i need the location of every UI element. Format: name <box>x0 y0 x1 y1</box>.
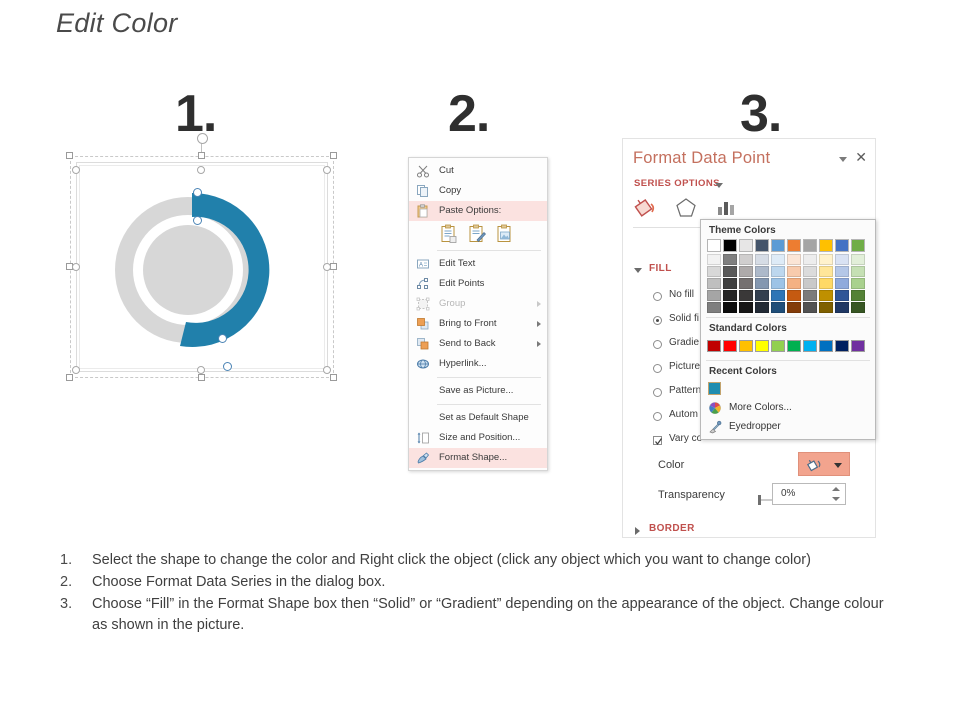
placeholder-handle-se[interactable] <box>323 366 331 374</box>
chart-options-icon[interactable] <box>713 195 739 221</box>
theme-variant-swatch-2-2[interactable] <box>739 278 753 289</box>
instructions-list: 1. Select the shape to change the color … <box>54 550 894 637</box>
context-menu-item-set-as-default-shape[interactable]: Set as Default Shape <box>409 408 547 428</box>
context-menu-item-save-as-picture[interactable]: Save as Picture... <box>409 381 547 401</box>
series-options-label[interactable]: SERIES OPTIONS <box>634 178 720 189</box>
fill-bucket-icon[interactable] <box>633 195 659 221</box>
option-no-fill[interactable]: No fill <box>669 289 694 300</box>
resize-handle-n[interactable] <box>198 152 205 159</box>
theme-variant-swatch-1-5[interactable] <box>787 266 801 277</box>
theme-variant-swatch-4-8[interactable] <box>835 302 849 313</box>
standard-color-swatch-7[interactable] <box>819 340 833 352</box>
paste-icon <box>416 204 430 218</box>
checkbox-vary-colors[interactable] <box>653 436 662 445</box>
theme-variant-swatch-0-7[interactable] <box>819 254 833 265</box>
instruction-text: Choose “Fill” in the Format Shape box th… <box>92 596 884 633</box>
eyedropper-item[interactable]: Eyedropper <box>701 417 875 436</box>
fill-section-header[interactable]: FILL <box>649 263 672 274</box>
resize-handle-e[interactable] <box>330 263 337 270</box>
theme-variant-swatch-3-6[interactable] <box>803 290 817 301</box>
edit-text-icon: A <box>416 257 430 271</box>
transparency-row-label: Transparency <box>658 489 725 501</box>
option-gradient-fill[interactable]: Gradie <box>669 337 699 348</box>
standard-color-swatch-5[interactable] <box>787 340 801 352</box>
context-menu-label: Copy <box>439 185 461 196</box>
fill-color-button[interactable] <box>798 452 850 476</box>
standard-color-swatch-6[interactable] <box>803 340 817 352</box>
context-menu-item-cut[interactable]: Cut <box>409 161 547 181</box>
theme-color-swatch-3[interactable] <box>755 239 769 252</box>
theme-color-swatch-5[interactable] <box>787 239 801 252</box>
theme-variant-swatch-2-3[interactable] <box>755 278 769 289</box>
theme-variant-swatch-3-3[interactable] <box>755 290 769 301</box>
standard-color-swatch-3[interactable] <box>755 340 769 352</box>
theme-variant-swatch-1-6[interactable] <box>803 266 817 277</box>
paste-options-icon-row[interactable] <box>409 221 547 247</box>
radio-picture-fill[interactable] <box>653 364 662 373</box>
theme-color-swatch-7[interactable] <box>819 239 833 252</box>
shape-effects-icon[interactable] <box>673 195 699 221</box>
context-menu-label: Hyperlink... <box>439 358 487 369</box>
color-row-label: Color <box>658 459 684 471</box>
context-menu-item-bring-to-front[interactable]: Bring to Front <box>409 314 547 334</box>
placeholder-handle-w[interactable] <box>72 263 80 271</box>
resize-handle-nw[interactable] <box>66 152 73 159</box>
theme-variant-swatch-3-0[interactable] <box>707 290 721 301</box>
theme-variant-swatch-2-0[interactable] <box>707 278 721 289</box>
theme-variant-swatch-4-0[interactable] <box>707 302 721 313</box>
option-pattern-fill[interactable]: Pattern <box>669 385 701 396</box>
theme-variant-swatch-0-4[interactable] <box>771 254 785 265</box>
radio-gradient-fill[interactable] <box>653 340 662 349</box>
instruction-item: 1. Select the shape to change the color … <box>54 550 894 571</box>
theme-variant-swatch-0-5[interactable] <box>787 254 801 265</box>
option-picture-fill[interactable]: Picture <box>669 361 700 372</box>
standard-color-swatch-4[interactable] <box>771 340 785 352</box>
context-menu-item-copy[interactable]: Copy <box>409 181 547 201</box>
theme-color-swatch-2[interactable] <box>739 239 753 252</box>
theme-color-swatch-8[interactable] <box>835 239 849 252</box>
submenu-arrow-icon <box>537 301 541 307</box>
spinner-up-icon[interactable] <box>832 487 840 491</box>
standard-color-swatch-0[interactable] <box>707 340 721 352</box>
paint-bucket-icon <box>805 456 825 474</box>
resize-handle-s[interactable] <box>198 374 205 381</box>
theme-color-swatch-6[interactable] <box>803 239 817 252</box>
theme-variant-swatch-2-8[interactable] <box>835 278 849 289</box>
pane-title: Format Data Point <box>633 149 770 168</box>
arc-handle-top-outer[interactable] <box>193 188 202 197</box>
resize-handle-ne[interactable] <box>330 152 337 159</box>
menu-separator <box>437 377 541 378</box>
theme-colors-label: Theme Colors <box>701 220 875 239</box>
slide-canvas: Edit Color 1. 2. 3. <box>0 0 960 720</box>
gray-inner-disc <box>143 225 233 315</box>
theme-variant-swatch-4-7[interactable] <box>819 302 833 313</box>
theme-variant-swatch-3-7[interactable] <box>819 290 833 301</box>
theme-variant-swatch-4-2[interactable] <box>739 302 753 313</box>
theme-colors-variants[interactable] <box>701 254 875 313</box>
theme-variant-swatch-0-3[interactable] <box>755 254 769 265</box>
context-menu-label: Group <box>439 298 465 309</box>
theme-variant-swatch-2-5[interactable] <box>787 278 801 289</box>
theme-variant-swatch-2-1[interactable] <box>723 278 737 289</box>
theme-variant-swatch-1-0[interactable] <box>707 266 721 277</box>
standard-color-swatch-1[interactable] <box>723 340 737 352</box>
transparency-spinner[interactable]: 0% <box>772 483 846 505</box>
theme-color-swatch-4[interactable] <box>771 239 785 252</box>
arc-handle-bottom-inner[interactable] <box>218 334 227 343</box>
context-menu-label: Save as Picture... <box>439 385 513 396</box>
radio-pattern-fill[interactable] <box>653 388 662 397</box>
step-number-2: 2. <box>448 88 489 140</box>
standard-colors-row[interactable] <box>701 337 875 356</box>
shape-selection-stage <box>62 148 342 386</box>
theme-variant-swatch-3-9[interactable] <box>851 290 865 301</box>
color-dropdown-arrow-icon[interactable] <box>834 463 842 468</box>
radio-no-fill[interactable] <box>653 292 662 301</box>
resize-handle-sw[interactable] <box>66 374 73 381</box>
submenu-arrow-icon <box>537 321 541 327</box>
context-menu-item-edit-text[interactable]: A Edit Text <box>409 254 547 274</box>
bring-front-icon <box>416 317 430 331</box>
context-menu-label: Cut <box>439 165 454 176</box>
border-section-toggle-icon[interactable] <box>635 527 640 535</box>
theme-colors-top-row[interactable] <box>701 239 875 252</box>
rotate-handle[interactable] <box>197 133 208 144</box>
context-menu-item-edit-points[interactable]: Edit Points <box>409 274 547 294</box>
more-colors-item[interactable]: More Colors... <box>701 398 875 417</box>
context-menu-label: Set as Default Shape <box>439 412 529 423</box>
theme-variant-swatch-3-2[interactable] <box>739 290 753 301</box>
theme-variant-swatch-2-6[interactable] <box>803 278 817 289</box>
right-click-context-menu[interactable]: Cut Copy Paste Options: <box>408 157 548 471</box>
standard-color-swatch-2[interactable] <box>739 340 753 352</box>
step-number-1: 1. <box>175 88 216 140</box>
context-menu-label: Edit Points <box>439 278 484 289</box>
theme-variant-swatch-4-9[interactable] <box>851 302 865 313</box>
radio-automatic-fill[interactable] <box>653 412 662 421</box>
context-menu-item-send-to-back[interactable]: Send to Back <box>409 334 547 354</box>
instruction-number: 1. <box>60 550 72 571</box>
theme-variant-swatch-4-4[interactable] <box>771 302 785 313</box>
theme-color-swatch-9[interactable] <box>851 239 865 252</box>
placeholder-handle-e[interactable] <box>323 263 331 271</box>
size-position-icon <box>416 431 430 445</box>
theme-variant-swatch-2-4[interactable] <box>771 278 785 289</box>
context-menu-label: Send to Back <box>439 338 496 349</box>
menu-separator <box>437 404 541 405</box>
context-menu-label: Bring to Front <box>439 318 497 329</box>
instruction-text: Choose Format Data Series in the dialog … <box>92 574 385 590</box>
theme-variant-swatch-0-6[interactable] <box>803 254 817 265</box>
color-picker-dropdown[interactable]: Theme Colors Standard Colors Recent Colo… <box>700 219 876 440</box>
step-number-3: 3. <box>740 88 781 140</box>
theme-variant-swatch-3-4[interactable] <box>771 290 785 301</box>
arc-handle-top-inner[interactable] <box>193 216 202 225</box>
paste-merge-icon[interactable] <box>467 224 487 244</box>
theme-variant-swatch-2-7[interactable] <box>819 278 833 289</box>
context-menu-item-format-shape[interactable]: Format Shape... <box>409 448 547 468</box>
paste-keep-formatting-icon[interactable] <box>439 224 459 244</box>
theme-variant-swatch-1-1[interactable] <box>723 266 737 277</box>
svg-text:A: A <box>419 263 423 269</box>
instruction-number: 3. <box>60 594 72 615</box>
placeholder-handle-sw[interactable] <box>72 366 80 374</box>
eyedropper-icon <box>708 420 722 434</box>
close-icon[interactable]: ✕ <box>855 150 867 164</box>
theme-variant-swatch-1-9[interactable] <box>851 266 865 277</box>
standard-color-swatch-8[interactable] <box>835 340 849 352</box>
spinner-down-icon[interactable] <box>832 497 840 501</box>
paste-picture-icon[interactable] <box>495 224 515 244</box>
group-icon <box>416 297 430 311</box>
theme-variant-swatch-1-2[interactable] <box>739 266 753 277</box>
submenu-arrow-icon <box>537 341 541 347</box>
recent-color-swatch[interactable] <box>708 382 721 395</box>
edit-points-icon <box>416 277 430 291</box>
label-vary-colors[interactable]: Vary co <box>669 433 702 444</box>
radio-solid-fill[interactable] <box>653 316 662 325</box>
theme-variant-swatch-1-7[interactable] <box>819 266 833 277</box>
scissors-icon <box>416 164 430 178</box>
more-colors-label: More Colors... <box>729 402 792 413</box>
context-menu-item-group[interactable]: Group <box>409 294 547 314</box>
fill-section-toggle-icon[interactable] <box>634 268 642 273</box>
copy-icon <box>416 184 430 198</box>
theme-variant-swatch-3-8[interactable] <box>835 290 849 301</box>
chevron-down-icon[interactable] <box>839 157 847 162</box>
series-options-chevron-icon[interactable] <box>715 183 723 188</box>
context-menu-label: Edit Text <box>439 258 475 269</box>
standard-colors-label: Standard Colors <box>701 318 875 337</box>
context-menu-label: Format Shape... <box>439 452 507 463</box>
theme-variant-swatch-3-5[interactable] <box>787 290 801 301</box>
border-section-header[interactable]: BORDER <box>649 523 695 534</box>
theme-variant-swatch-1-8[interactable] <box>835 266 849 277</box>
theme-variant-swatch-0-2[interactable] <box>739 254 753 265</box>
context-menu-item-paste-options[interactable]: Paste Options: <box>409 201 547 221</box>
theme-variant-swatch-3-1[interactable] <box>723 290 737 301</box>
page-title: Edit Color <box>56 8 178 39</box>
theme-variant-swatch-4-3[interactable] <box>755 302 769 313</box>
option-automatic-fill[interactable]: Autom <box>669 409 698 420</box>
send-back-icon <box>416 337 430 351</box>
context-menu-label: Paste Options: <box>439 205 501 216</box>
recent-colors-label: Recent Colors <box>701 361 875 380</box>
format-shape-icon <box>416 451 430 465</box>
donut-chart[interactable] <box>96 170 292 366</box>
theme-variant-swatch-4-6[interactable] <box>803 302 817 313</box>
theme-variant-swatch-0-1[interactable] <box>723 254 737 265</box>
instruction-item: 3. Choose “Fill” in the Format Shape box… <box>54 594 894 636</box>
theme-variant-swatch-4-5[interactable] <box>787 302 801 313</box>
context-menu-item-hyperlink[interactable]: Hyperlink... <box>409 354 547 374</box>
theme-color-swatch-1[interactable] <box>723 239 737 252</box>
arc-handle-bottom-outer[interactable] <box>223 362 232 371</box>
hyperlink-icon <box>416 357 430 371</box>
instruction-number: 2. <box>60 572 72 593</box>
standard-color-swatch-9[interactable] <box>851 340 865 352</box>
eyedropper-label: Eyedropper <box>729 421 781 432</box>
theme-variant-swatch-0-0[interactable] <box>707 254 721 265</box>
menu-separator <box>437 250 541 251</box>
placeholder-handle-nw[interactable] <box>72 166 80 174</box>
instruction-text: Select the shape to change the color and… <box>92 552 811 568</box>
theme-variant-swatch-0-8[interactable] <box>835 254 849 265</box>
transparency-value: 0% <box>781 488 795 499</box>
context-menu-label: Size and Position... <box>439 432 520 443</box>
theme-variant-swatch-2-9[interactable] <box>851 278 865 289</box>
theme-variant-swatch-1-3[interactable] <box>755 266 769 277</box>
theme-color-swatch-0[interactable] <box>707 239 721 252</box>
color-wheel-icon <box>708 401 722 415</box>
instruction-item: 2. Choose Format Data Series in the dial… <box>54 572 894 593</box>
option-solid-fill[interactable]: Solid fi <box>669 313 699 324</box>
theme-variant-swatch-0-9[interactable] <box>851 254 865 265</box>
context-menu-item-size-and-position[interactable]: Size and Position... <box>409 428 547 448</box>
placeholder-handle-ne[interactable] <box>323 166 331 174</box>
resize-handle-se[interactable] <box>330 374 337 381</box>
placeholder-handle-s[interactable] <box>197 366 205 374</box>
theme-variant-swatch-4-1[interactable] <box>723 302 737 313</box>
theme-variant-swatch-1-4[interactable] <box>771 266 785 277</box>
